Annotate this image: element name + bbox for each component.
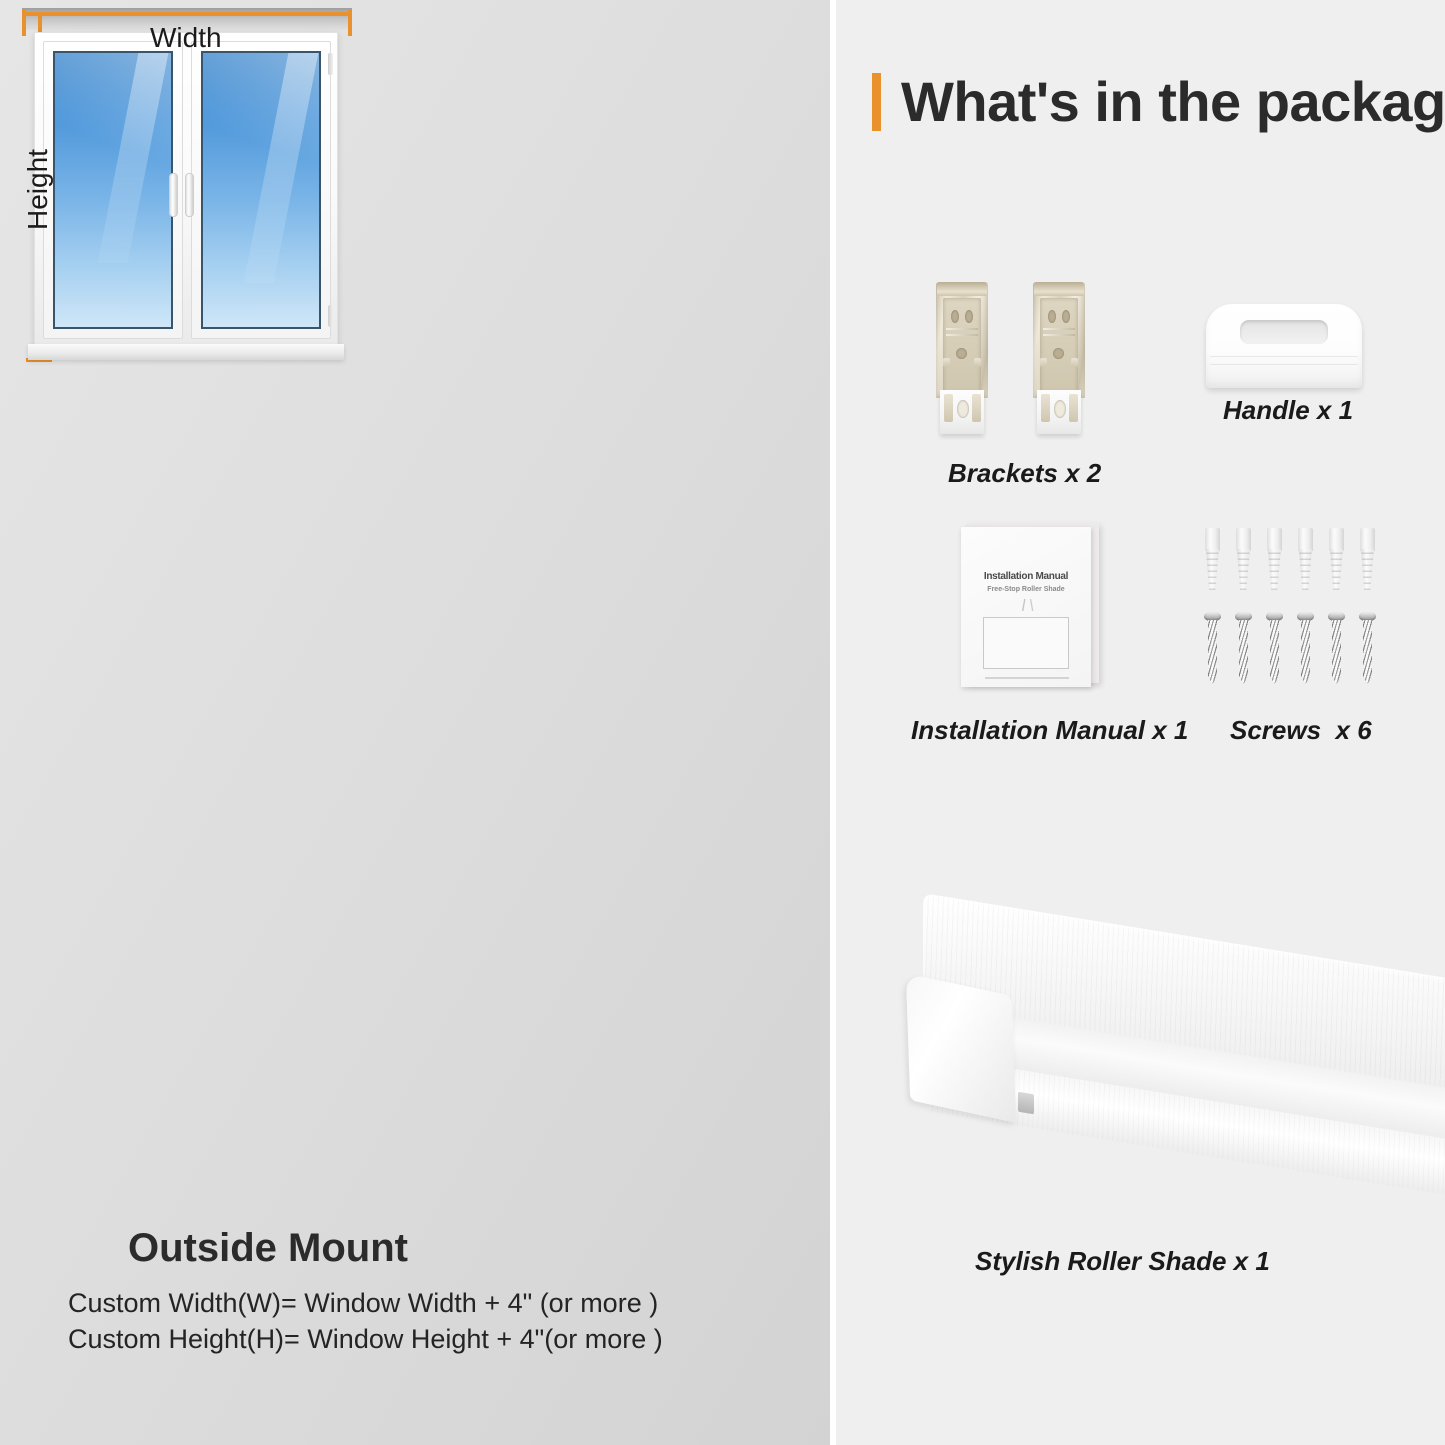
- handle-label: Handle x 1: [1223, 395, 1353, 426]
- bracket-tab-left: [1040, 358, 1047, 367]
- bracket-slot-3: [956, 348, 967, 359]
- roller-shade-label: Stylish Roller Shade x 1: [975, 1246, 1270, 1277]
- window-hinge-top-2: [328, 53, 333, 75]
- anchor-body: [1299, 549, 1312, 590]
- wall-anchor-6: [1358, 528, 1377, 590]
- width-marker-line-2: [22, 12, 352, 16]
- panel-divider: [830, 0, 836, 1445]
- anchor-head: [1298, 528, 1313, 551]
- bracket-base-hole: [1054, 400, 1066, 418]
- bracket-rib-2: [946, 334, 978, 336]
- screw-head: [1297, 612, 1314, 621]
- anchor-head: [1267, 528, 1282, 551]
- manual-front-cover: Installation Manual Free-Stop Roller Sha…: [961, 527, 1091, 687]
- screws-label: Screws x 6: [1230, 715, 1372, 746]
- bracket-rib-1: [1043, 328, 1075, 330]
- wall-anchor-5: [1327, 528, 1346, 590]
- bracket-base-rail-left: [944, 394, 953, 422]
- screw-shaft: [1363, 620, 1372, 684]
- height-label-2: Height: [22, 149, 54, 230]
- roller-shade-end-bracket: [1018, 1092, 1034, 1115]
- package-title: What's in the package: [901, 74, 1445, 130]
- window-handle-right-diagram-2: [185, 173, 194, 217]
- outside-spec-1: Custom Height(H)= Window Height + 4"(or …: [68, 1321, 663, 1357]
- bracket-slot-2: [1062, 310, 1070, 323]
- window-sash-left-2: [43, 41, 183, 339]
- bracket-top-lip: [937, 282, 987, 296]
- bracket-base-rail-right: [1069, 394, 1078, 422]
- outside-mount-title: Outside Mount: [128, 1226, 408, 1271]
- how-to-measure-panel: How to Meausre: [0, 0, 835, 1445]
- bracket-tab-right: [1071, 358, 1078, 367]
- screw-head: [1235, 612, 1252, 621]
- brackets-label: Brackets x 2: [948, 458, 1101, 489]
- wall-anchor-3: [1265, 528, 1284, 590]
- bracket-item-2: [1033, 282, 1085, 434]
- screw-head: [1204, 612, 1221, 621]
- bracket-rib-2: [1043, 334, 1075, 336]
- roller-shade-end-cap: [906, 973, 1016, 1123]
- window-hinge-bottom-2: [328, 305, 333, 327]
- bracket-slot-2: [965, 310, 973, 323]
- manual-label: Installation Manual x 1: [911, 715, 1188, 746]
- screw-5: [1328, 612, 1345, 684]
- roller-shade-product: [905, 885, 1440, 1205]
- bracket-rib-1: [946, 328, 978, 330]
- width-marker-cap-right-2: [348, 10, 352, 36]
- anchor-head: [1360, 528, 1375, 551]
- bracket-tab-left: [943, 358, 950, 367]
- wall-anchor-2: [1234, 528, 1253, 590]
- bracket-base-rail-left: [1041, 394, 1050, 422]
- manual-cover-marks: [999, 599, 1053, 611]
- screw-shaft: [1208, 620, 1217, 684]
- handle-groove-1: [1210, 356, 1358, 357]
- screw-6: [1359, 612, 1376, 684]
- bracket-slot-1: [1048, 310, 1056, 323]
- bracket-slot-1: [951, 310, 959, 323]
- bracket-slot-3: [1053, 348, 1064, 359]
- anchor-body: [1361, 549, 1374, 590]
- manual-item: Installation Manual Free-Stop Roller Sha…: [961, 523, 1101, 689]
- window-sill-2: [28, 344, 344, 360]
- manual-cover-image-box: [983, 617, 1069, 669]
- infographic-page: How to Meausre: [0, 0, 1445, 1445]
- screw-head: [1266, 612, 1283, 621]
- anchor-body: [1330, 549, 1343, 590]
- screw-shaft: [1301, 620, 1310, 684]
- screw-head: [1328, 612, 1345, 621]
- window-glass-left-2: [53, 51, 173, 329]
- screw-3: [1266, 612, 1283, 684]
- anchor-body: [1268, 549, 1281, 590]
- handle-groove-2: [1210, 364, 1358, 365]
- width-label-2: Width: [150, 22, 222, 54]
- outside-spec-0: Custom Width(W)= Window Width + 4" (or m…: [68, 1285, 663, 1321]
- wall-anchor-1: [1203, 528, 1222, 590]
- bracket-inner-plate: [943, 298, 981, 394]
- package-contents-panel: What's in the package: [835, 0, 1445, 1445]
- bracket-base-hole: [957, 400, 969, 418]
- anchor-head: [1329, 528, 1344, 551]
- bracket-tab-right: [974, 358, 981, 367]
- anchor-body: [1237, 549, 1250, 590]
- bracket-inner-plate: [1040, 298, 1078, 394]
- screw-2: [1235, 612, 1252, 684]
- window-frame-2: [34, 32, 338, 348]
- outside-mount-specs: Custom Width(W)= Window Width + 4" (or m…: [68, 1285, 663, 1357]
- bracket-top-lip: [1034, 282, 1084, 296]
- screw-head: [1359, 612, 1376, 621]
- manual-cover-title: Installation Manual: [961, 571, 1091, 582]
- window-sash-right-2: [191, 41, 331, 339]
- handle-item: [1206, 304, 1362, 388]
- manual-footer-line-1: [985, 677, 1069, 679]
- screw-4: [1297, 612, 1314, 684]
- bracket-base-rail-right: [972, 394, 981, 422]
- window-handle-left-diagram-2: [169, 173, 178, 217]
- anchor-head: [1236, 528, 1251, 551]
- handle-grip-slot: [1240, 320, 1328, 344]
- wall-anchor-4: [1296, 528, 1315, 590]
- handle-shape: [1206, 304, 1362, 388]
- screw-shaft: [1270, 620, 1279, 684]
- window-glass-right-2: [201, 51, 321, 329]
- package-heading: What's in the package: [872, 73, 1445, 131]
- window-measurement-diagram-outside: Width Height: [0, 400, 365, 798]
- manual-cover-subtitle: Free-Stop Roller Shade: [961, 586, 1091, 593]
- accent-bar-icon-2: [872, 73, 881, 131]
- screw-1: [1204, 612, 1221, 684]
- bracket-item-1: [936, 282, 988, 434]
- anchor-head: [1205, 528, 1220, 551]
- screw-shaft: [1332, 620, 1341, 684]
- height-marker-cap-top-2: [26, 12, 52, 16]
- screw-shaft: [1239, 620, 1248, 684]
- anchor-body: [1206, 549, 1219, 590]
